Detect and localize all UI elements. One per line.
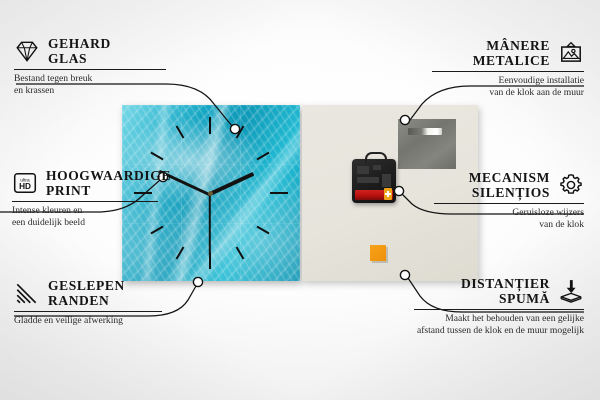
mechanism-detail-1 (357, 166, 369, 174)
callout-title-line2: SPUMĂ (461, 291, 550, 306)
callout-head: ultra HD HOOGWAARDIGE PRINT (12, 168, 154, 198)
clock-tick-3 (270, 192, 288, 194)
callout-description: Maakt het behouden van een gelijke afsta… (414, 313, 584, 336)
callout-head: MÂNERE METALICE (432, 38, 584, 68)
callout-desc-line1: Eenvoudige installatie (432, 75, 584, 87)
callout-title-line1: GEHARD (48, 36, 111, 51)
callout-title-line2: SILENȚIOS (469, 185, 550, 200)
hanger-slot (408, 128, 442, 135)
gear-icon (558, 172, 584, 198)
callout-geslepen-randen: GESLEPEN RANDEN Gladde en veilige afwerk… (14, 278, 162, 327)
ultra-hd-icon: ultra HD (12, 170, 38, 196)
mechanism-detail-2 (373, 165, 381, 170)
callout-gehard-glas: GEHARD GLAS Bestand tegen breuk en krass… (14, 36, 166, 96)
product-image (122, 105, 478, 281)
callout-title-line2: PRINT (46, 183, 171, 198)
callout-head: MECANISM SILENȚIOS (434, 170, 584, 200)
beveled-edges-icon (14, 280, 40, 306)
svg-text:HD: HD (19, 182, 31, 191)
callout-head: DISTANȚIER SPUMĂ (414, 276, 584, 306)
callout-mecanism-silentios: MECANISM SILENȚIOS Geruisloze wijzers va… (434, 170, 584, 230)
callout-title: GEHARD GLAS (48, 36, 111, 66)
clock-second-hand (209, 194, 211, 256)
callout-title: MECANISM SILENȚIOS (469, 170, 550, 200)
callout-description: Intense kleuren en een duidelijk beeld (12, 205, 154, 228)
callout-title: DISTANȚIER SPUMĂ (461, 276, 550, 306)
mechanism-hang-loop (365, 152, 387, 163)
callout-hoogwaardige-print: ultra HD HOOGWAARDIGE PRINT Intense kleu… (12, 168, 154, 228)
callout-manere-metalice: MÂNERE METALICE Eenvoudige installatie v… (432, 38, 584, 98)
mechanism-detail-4 (382, 174, 391, 187)
callout-divider (434, 203, 584, 204)
callout-desc-line2: van de klok aan de muur (432, 87, 584, 99)
callout-title: GESLEPEN RANDEN (48, 278, 125, 308)
callout-desc-line1: Gladde en veilige afwerking (14, 315, 162, 327)
clock-mechanism-box (352, 159, 396, 203)
battery-plus-terminal (384, 188, 392, 200)
diamond-icon (14, 38, 40, 64)
callout-title-line2: RANDEN (48, 293, 125, 308)
clock-tick-12 (209, 117, 211, 134)
callout-divider (12, 201, 158, 202)
callout-desc-line2: en krassen (14, 85, 166, 97)
callout-divider (14, 311, 162, 312)
callout-title-line1: MECANISM (469, 170, 550, 185)
spacer-press-icon (558, 278, 584, 304)
foam-spacer (370, 245, 386, 261)
callout-desc-line1: Bestand tegen breuk (14, 73, 166, 85)
aa-battery (355, 190, 393, 200)
callout-title: MÂNERE METALICE (473, 38, 550, 68)
callout-desc-line2: van de klok (434, 219, 584, 231)
metal-hanger-plate (398, 119, 456, 169)
callout-description: Gladde en veilige afwerking (14, 315, 162, 327)
callout-desc-line2: een duidelijk beeld (12, 217, 154, 229)
callout-title-line2: METALICE (473, 53, 550, 68)
callout-title-line1: DISTANȚIER (461, 276, 550, 291)
callout-desc-line1: Maakt het behouden van een gelijke (414, 313, 584, 325)
callout-divider (14, 69, 166, 70)
callout-title-line1: MÂNERE (473, 38, 550, 53)
clock-center-hub (208, 191, 213, 196)
callout-description: Bestand tegen breuk en krassen (14, 73, 166, 96)
callout-title-line1: GESLEPEN (48, 278, 125, 293)
callout-divider (432, 71, 584, 72)
callout-divider (414, 309, 584, 310)
callout-description: Geruisloze wijzers van de klok (434, 207, 584, 230)
callout-distantier-spuma: DISTANȚIER SPUMĂ Maakt het behouden van … (414, 276, 584, 336)
callout-title: HOOGWAARDIGE PRINT (46, 168, 171, 198)
picture-hanger-icon (558, 40, 584, 66)
infographic-canvas: GEHARD GLAS Bestand tegen breuk en krass… (0, 0, 600, 400)
mechanism-detail-3 (357, 177, 379, 183)
callout-desc-line2: afstand tussen de klok en de muur mogeli… (414, 325, 584, 337)
callout-title-line1: HOOGWAARDIGE (46, 168, 171, 183)
callout-desc-line1: Geruisloze wijzers (434, 207, 584, 219)
callout-description: Eenvoudige installatie van de klok aan d… (432, 75, 584, 98)
callout-title-line2: GLAS (48, 51, 111, 66)
callout-head: GEHARD GLAS (14, 36, 166, 66)
callout-head: GESLEPEN RANDEN (14, 278, 162, 308)
callout-desc-line1: Intense kleuren en (12, 205, 154, 217)
